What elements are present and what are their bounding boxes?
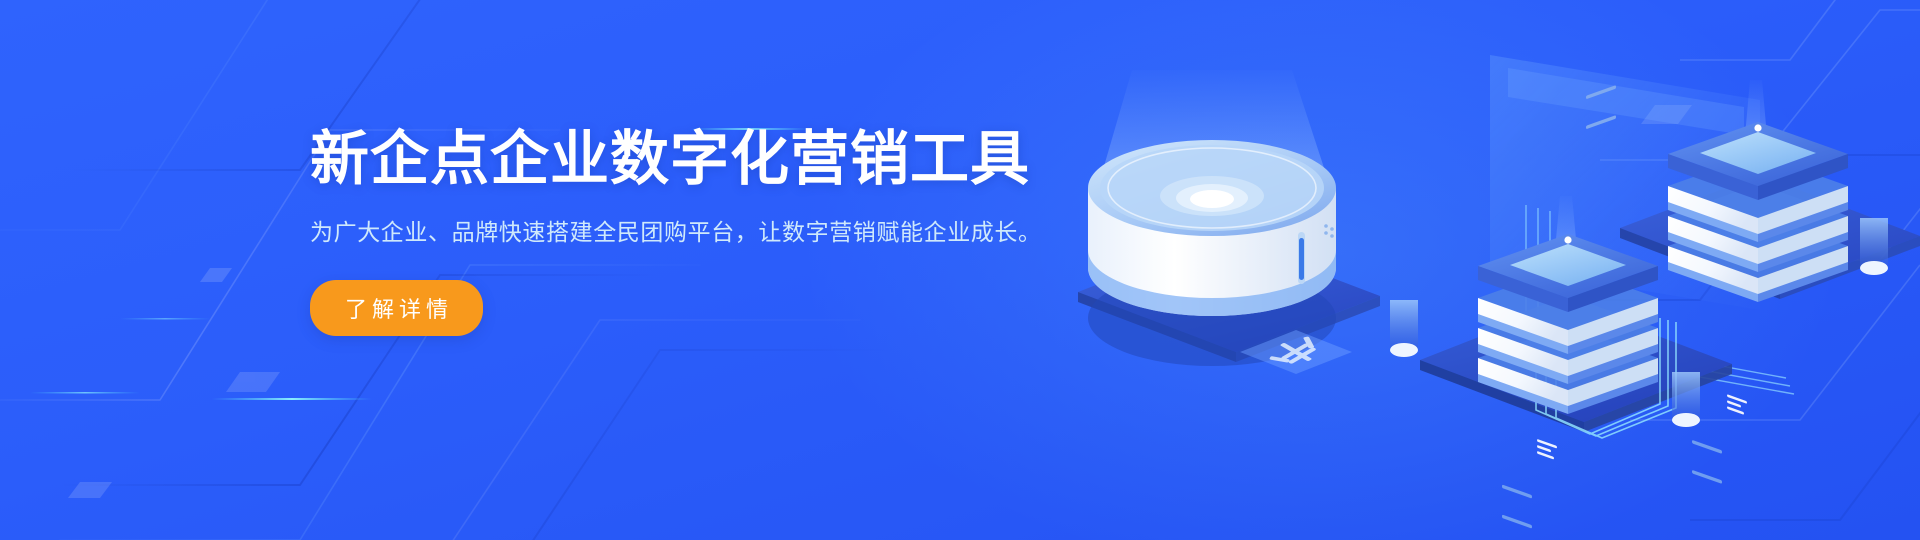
- banner-subtitle: 为广大企业、品牌快速搭建全民团购平台，让数字营销赋能企业成长。: [310, 216, 1010, 248]
- pillar-light-lower: [1672, 372, 1700, 427]
- cta-container: 了解详情: [310, 280, 1010, 336]
- page-title: 新企点企业数字化营销工具: [310, 128, 1010, 192]
- banner-content: 新企点企业数字化营销工具 为广大企业、品牌快速搭建全民团购平台，让数字营销赋能企…: [310, 128, 1010, 336]
- isometric-illustration: [1060, 0, 1920, 540]
- promo-banner: 新企点企业数字化营销工具 为广大企业、品牌快速搭建全民团购平台，让数字营销赋能企…: [0, 0, 1920, 540]
- pillar-light-right: [1860, 218, 1888, 275]
- pillar-light-center: [1390, 300, 1418, 357]
- learn-more-button[interactable]: 了解详情: [310, 280, 483, 336]
